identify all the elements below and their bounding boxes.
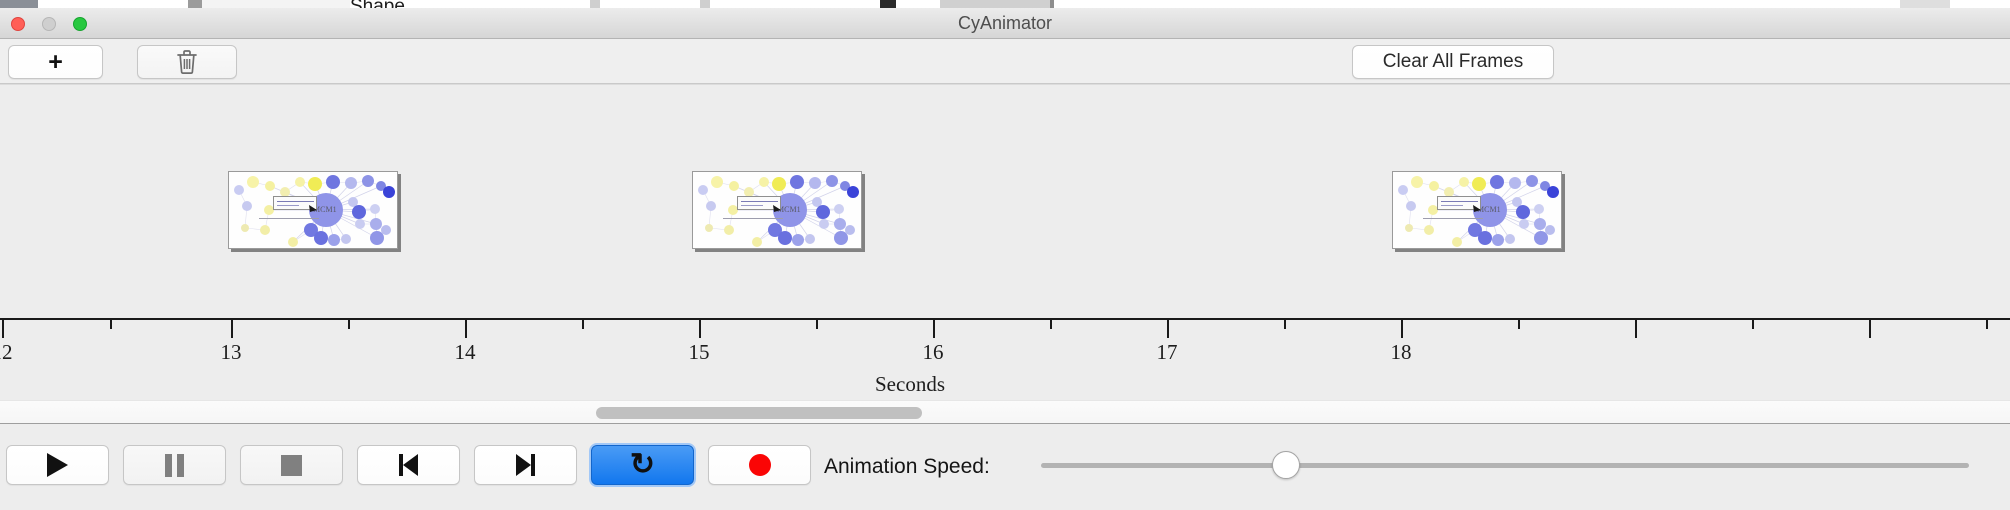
stop-button xyxy=(240,445,343,485)
ruler-tick-label: 17 xyxy=(1157,340,1178,365)
ruler-tick-minor xyxy=(1050,320,1052,329)
network-graph-thumbnail: MCM1 xyxy=(1393,172,1561,248)
keyframe-thumbnail[interactable]: MCM1 xyxy=(1392,171,1562,249)
timeline-scrollbar-thumb[interactable] xyxy=(596,407,922,419)
animation-speed-slider[interactable] xyxy=(1041,463,1969,468)
ruler-tick-label: 16 xyxy=(923,340,944,365)
play-icon xyxy=(47,453,68,477)
ruler-tick-label: 15 xyxy=(689,340,710,365)
skip-forward-icon xyxy=(516,454,535,476)
playback-control-bar: ↻ Animation Speed: xyxy=(0,425,2010,510)
ruler-tick-major xyxy=(1869,320,1871,338)
skip-back-button[interactable] xyxy=(357,445,460,485)
animation-speed-slider-thumb[interactable] xyxy=(1272,451,1300,479)
window-title: CyAnimator xyxy=(0,8,2010,39)
title-bar: CyAnimator xyxy=(0,8,2010,39)
pause-icon xyxy=(165,454,184,477)
ruler-tick-major xyxy=(465,320,467,338)
network-annotation-pointer xyxy=(1393,172,1562,249)
animation-speed-label: Animation Speed: xyxy=(824,455,990,479)
cyanimator-window: Shape CyAnimator + Clear All Frames MCM1… xyxy=(0,0,2010,510)
skip-back-icon xyxy=(399,454,418,476)
network-annotation-pointer xyxy=(693,172,862,249)
ruler-tick-major xyxy=(699,320,701,338)
ruler-tick-minor xyxy=(582,320,584,329)
clear-all-frames-label: Clear All Frames xyxy=(1383,51,1523,73)
ruler-baseline xyxy=(0,318,2010,320)
ruler-tick-label: 18 xyxy=(1391,340,1412,365)
network-graph-thumbnail: MCM1 xyxy=(693,172,861,248)
keyframe-thumbnail[interactable]: MCM1 xyxy=(228,171,398,249)
record-icon xyxy=(749,454,771,476)
loop-button[interactable]: ↻ xyxy=(591,445,694,485)
record-button[interactable] xyxy=(708,445,811,485)
ruler-tick-minor xyxy=(348,320,350,329)
add-frame-button[interactable]: + xyxy=(8,45,103,79)
ruler-tick-minor xyxy=(1752,320,1754,329)
ruler-tick-label: 13 xyxy=(221,340,242,365)
ruler-tick-major xyxy=(1635,320,1637,338)
play-button[interactable] xyxy=(6,445,109,485)
plus-icon: + xyxy=(48,50,63,75)
ruler-tick-major xyxy=(933,320,935,338)
ruler-tick-major xyxy=(2,320,4,338)
timeline-ruler: 12131415161718 Seconds xyxy=(0,318,2010,400)
toolbar: + Clear All Frames xyxy=(0,39,2010,84)
ruler-tick-label: 12 xyxy=(0,340,13,365)
network-graph-thumbnail: MCM1 xyxy=(229,172,397,248)
ruler-tick-minor xyxy=(1986,320,1988,329)
keyframe-thumbnail[interactable]: MCM1 xyxy=(692,171,862,249)
ruler-tick-major xyxy=(1401,320,1403,338)
ruler-tick-major xyxy=(231,320,233,338)
ruler-tick-label: 14 xyxy=(455,340,476,365)
stop-icon xyxy=(281,455,302,476)
clear-all-frames-button[interactable]: Clear All Frames xyxy=(1352,45,1554,79)
timeline-scrollbar[interactable] xyxy=(0,400,2010,424)
network-annotation-pointer xyxy=(229,172,398,249)
delete-frame-button[interactable] xyxy=(137,45,237,79)
ruler-axis-title: Seconds xyxy=(0,372,2010,397)
ruler-tick-minor xyxy=(1518,320,1520,329)
loop-icon: ↻ xyxy=(630,450,655,480)
ruler-tick-minor xyxy=(110,320,112,329)
skip-forward-button[interactable] xyxy=(474,445,577,485)
ruler-tick-major xyxy=(1167,320,1169,338)
ruler-tick-minor xyxy=(816,320,818,329)
trash-icon xyxy=(176,49,198,75)
pause-button xyxy=(123,445,226,485)
ruler-tick-minor xyxy=(1284,320,1286,329)
